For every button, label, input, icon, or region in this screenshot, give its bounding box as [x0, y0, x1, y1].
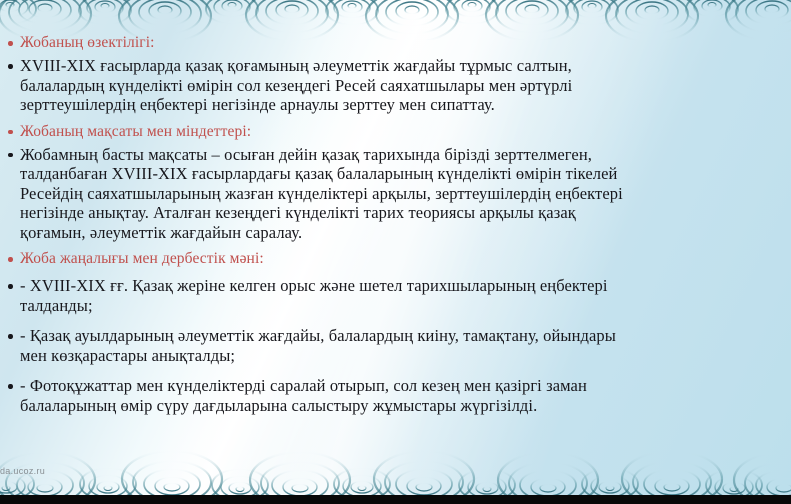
heading-text: Жобаның мақсаты мен міндеттері:	[20, 122, 791, 142]
section-body-novelty-3: - Фотоқұжаттар мен күнделіктерді саралай…	[4, 376, 791, 415]
body-line: негізінде анықтау. Аталған кезеңдегі күн…	[20, 203, 791, 223]
heading-text: Жобаның өзектілігі:	[20, 33, 791, 53]
bottom-black-strip	[0, 495, 791, 504]
body-line: Жобамның басты мақсаты – осыған дейін қа…	[20, 145, 791, 165]
bullet-row: Жобаның мақсаты мен міндеттері:	[4, 122, 791, 142]
bottom-decorative-border	[0, 438, 791, 496]
section-body-goals: Жобамның басты мақсаты – осыған дейін қа…	[4, 145, 791, 243]
bullet-row: Жобаның өзектілігі:	[4, 33, 791, 53]
body-line: зерттеушілердің еңбектері негізінде арна…	[20, 95, 791, 115]
section-body-novelty-2: - Қазақ ауылдарының әлеуметтік жағдайы, …	[4, 326, 791, 365]
section-heading-relevance: Жобаның өзектілігі:	[4, 33, 791, 53]
bullet-row: - Қазақ ауылдарының әлеуметтік жағдайы, …	[4, 326, 791, 346]
body-line: талданбаған XVIII-XIX ғасырлардағы қазақ…	[20, 164, 791, 184]
body-line: XVIII-XIX ғасырларда қазақ қоғамының әле…	[20, 56, 791, 76]
body-line: - XVIII-XIX ғғ. Қазақ жеріне келген орыс…	[20, 276, 791, 296]
heading-text: Жоба жаңалығы мен дербестік мәні:	[20, 249, 791, 269]
presentation-slide: Жобаның өзектілігі: XVIII-XIX ғасырларда…	[0, 0, 791, 504]
bullet-row: Жобамның басты мақсаты – осыған дейін қа…	[4, 145, 791, 165]
section-heading-novelty: Жоба жаңалығы мен дербестік мәні:	[4, 249, 791, 269]
bullet-row: XVIII-XIX ғасырларда қазақ қоғамының әле…	[4, 56, 791, 76]
bullet-row: - Фотоқұжаттар мен күнделіктерді саралай…	[4, 376, 791, 396]
body-line: балаларының өмір сүру дағдыларына салыст…	[20, 396, 791, 416]
body-line: талданды;	[20, 296, 791, 316]
body-line: балалардың күнделікті өмірін сол кезеңде…	[20, 76, 791, 96]
section-heading-goals: Жобаның мақсаты мен міндеттері:	[4, 122, 791, 142]
bullet-row: - XVIII-XIX ғғ. Қазақ жеріне келген орыс…	[4, 276, 791, 296]
body-line: мен көзқарастары анықталды;	[20, 346, 791, 366]
section-body-novelty-1: - XVIII-XIX ғғ. Қазақ жеріне келген орыс…	[4, 276, 791, 315]
body-line: - Фотоқұжаттар мен күнделіктерді саралай…	[20, 376, 791, 396]
body-line: Ресейдің саяхатшыларының жазған күнделік…	[20, 184, 791, 204]
site-watermark: da.ucoz.ru	[0, 466, 45, 476]
slide-body: Жобаның өзектілігі: XVIII-XIX ғасырларда…	[0, 33, 791, 415]
body-line: - Қазақ ауылдарының әлеуметтік жағдайы, …	[20, 326, 791, 346]
bullet-row: Жоба жаңалығы мен дербестік мәні:	[4, 249, 791, 269]
section-body-relevance: XVIII-XIX ғасырларда қазақ қоғамының әле…	[4, 56, 791, 115]
body-line: қоғамын, әлеуметтік жағдайын саралау.	[20, 223, 791, 243]
